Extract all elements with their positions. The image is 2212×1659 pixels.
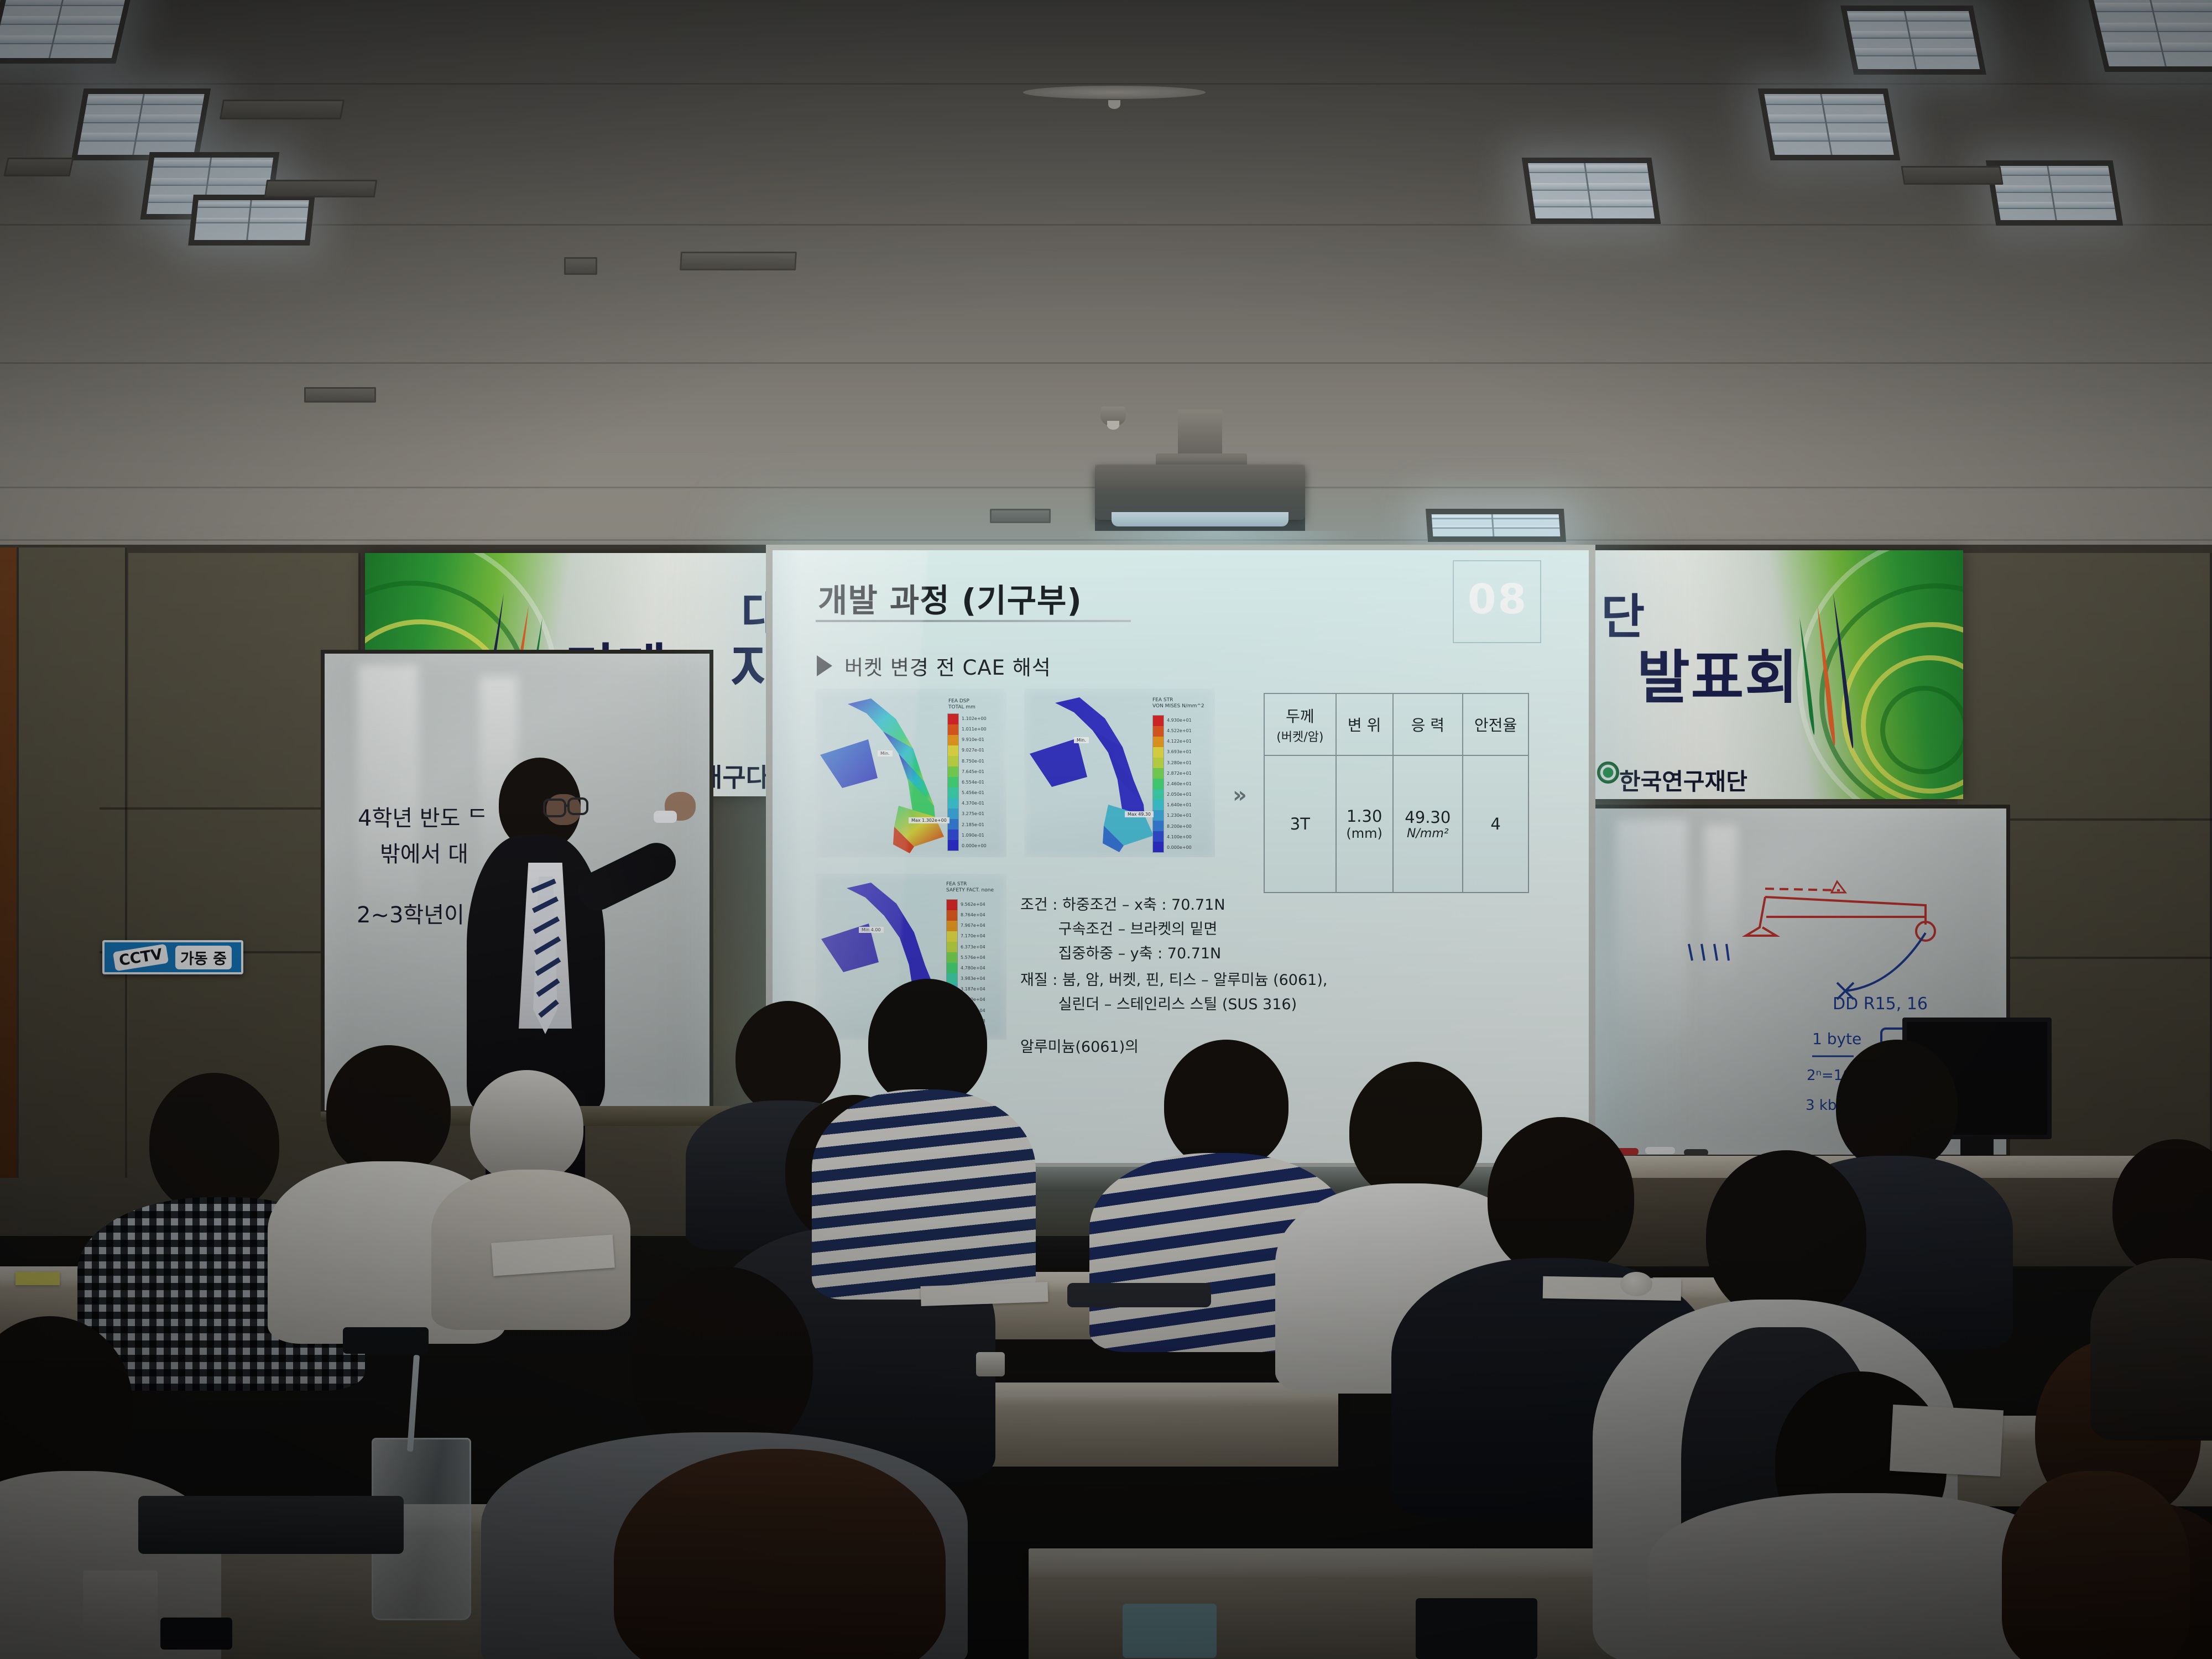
table-header-row: 두께 (버켓/암) 변 위 응 력 안전율	[1264, 693, 1528, 755]
attendee-foreground-long-hair	[553, 1449, 1006, 1659]
ceiling-vent	[990, 509, 1051, 523]
color-legend-bar	[947, 713, 959, 851]
table-header-thickness: 두께 (버켓/암)	[1264, 693, 1336, 755]
smartphone-dark	[343, 1327, 429, 1354]
ceiling-light	[1758, 88, 1901, 160]
crumpled-tissue	[1620, 1272, 1652, 1296]
banner-right-sponsor: 한국연구재단	[1619, 763, 1747, 797]
ceiling-vent	[264, 180, 377, 197]
attendee-foreground-far-right	[1969, 1471, 2212, 1659]
drinking-straw	[407, 1355, 420, 1452]
callout-max: Max 49.30	[1125, 811, 1154, 817]
lecture-room-photo: 기계 · 자 대 주최 : 대구다 단 발표회 한국연구재단 4학년 반도 ᄃ …	[0, 0, 2212, 1659]
ceiling-vent	[564, 257, 597, 275]
whiteboard-right-note-1: DD R15, 16	[1833, 994, 1928, 1014]
sticky-note	[15, 1272, 60, 1285]
cae-image-displacement: FEA DSP TOTAL mm	[816, 688, 1006, 857]
ceiling-light	[71, 88, 211, 160]
legend-title: FEA DSP TOTAL mm	[948, 698, 975, 711]
folder-dark	[1067, 1283, 1211, 1307]
sponsor-logo-icon	[1597, 761, 1619, 784]
laptop-bag	[138, 1496, 404, 1554]
cctv-status: 가동 중	[175, 946, 232, 969]
ceiling-vent	[304, 387, 376, 403]
table-header-displacement: 변 위	[1336, 693, 1393, 755]
ceiling-light	[0, 0, 133, 64]
double-chevron-icon: »	[1233, 782, 1247, 808]
necktie	[526, 877, 565, 1037]
chevron-right-icon	[817, 655, 832, 676]
cctv-sign: CCTV 가동 중	[102, 940, 243, 974]
ceiling-light	[1522, 158, 1661, 224]
banner-right-title: 발표회	[1637, 630, 1799, 714]
slide-bullet-label: 버켓 변경 전 CAE 해석	[844, 651, 1051, 681]
desk-row-front-right	[1029, 1548, 1681, 1579]
legend-values: 1.102e+001.011e+00 9.910e-019.027e-01 8.…	[962, 713, 987, 851]
material-line-1: 재질 : 붐, 암, 버켓, 핀, 티스 – 알루미늄 (6061),	[1020, 968, 1327, 993]
conditions-line-3: 집중하중 – y축 : 70.71N	[1020, 942, 1221, 966]
bottle-cap	[976, 1352, 1005, 1376]
conditions-line-1: 조건 : 하중조건 – x축 : 70.71N	[1020, 893, 1225, 917]
ceiling-light	[1840, 6, 1986, 75]
legend-title: FEA STR SAFETY FACT. none	[946, 881, 994, 894]
sprinkler-icon	[1023, 86, 1206, 99]
smartphone-on-desk	[160, 1618, 232, 1650]
callout-min: Min.	[1074, 737, 1089, 743]
handout-paper	[1543, 1276, 1682, 1301]
results-table: 두께 (버켓/암) 변 위 응 력 안전율 3T 1.30 (mm) 49.30	[1264, 693, 1529, 893]
callout-max: Max 1.302e+00	[909, 817, 950, 823]
presenter-arm	[572, 836, 682, 916]
smartphone-screen-lit	[1123, 1604, 1217, 1658]
table-row: 3T 1.30 (mm) 49.30 N/mm² 4	[1264, 755, 1528, 893]
cell-stress: 49.30 N/mm²	[1393, 755, 1463, 893]
title-underline	[816, 620, 1131, 622]
ceiling-vent	[3, 158, 74, 176]
cell-displacement: 1.30 (mm)	[1336, 755, 1393, 893]
paper-cup	[83, 1571, 158, 1640]
projector	[1095, 465, 1305, 531]
callout-min: Min.	[878, 750, 893, 757]
slide-bullet: 버켓 변경 전 CAE 해석	[817, 651, 1051, 681]
slide-title: 개발 과정 (기구부)	[818, 575, 1082, 621]
whiteboard-note-3: 2~3학년이	[357, 897, 465, 929]
table-header-stress: 응 력	[1393, 693, 1463, 755]
whiteboard-note-2: 밖에서 대	[380, 836, 468, 868]
sprinkler-icon	[1100, 406, 1126, 426]
smartphone-case	[1416, 1598, 1537, 1659]
material-line-2: 실린더 – 스테인리스 스틸 (SUS 316)	[1020, 993, 1297, 1017]
handout-paper	[1890, 1405, 2004, 1477]
presenter-cuff	[654, 811, 677, 823]
glasses-icon	[543, 794, 604, 827]
ceiling-vent	[1901, 166, 2003, 185]
ceiling-light	[2087, 0, 2212, 72]
callout-min: Min 4.00	[859, 927, 884, 933]
ceiling-vent	[680, 252, 797, 270]
conditions-line-2: 구속조건 – 브라켓의 밑면	[1020, 917, 1217, 942]
ceiling-light	[1986, 160, 2124, 226]
ceiling-light	[1426, 509, 1566, 542]
legend-values: 4.930e+014.522e+01 4.122e+013.693e+01 3.…	[1167, 715, 1192, 853]
color-legend-bar	[1152, 715, 1164, 853]
attendee-mid-navy-stripe	[807, 979, 1040, 1288]
legend-title: FEA STR VON MISES N/mm^2	[1152, 697, 1204, 710]
banner-right: 단 발표회 한국연구재단	[1582, 550, 1963, 799]
cctv-label: CCTV	[113, 943, 169, 971]
attendee-edge-right	[2090, 1139, 2212, 1427]
cell-thickness: 3T	[1264, 755, 1336, 893]
cae-image-stress: FEA STR VON MISES N/mm^2	[1024, 688, 1215, 857]
ceiling-light	[188, 195, 315, 246]
slide-number: 08	[1468, 576, 1528, 623]
cell-safety-factor: 4	[1463, 755, 1528, 893]
ceiling-vent	[220, 100, 345, 119]
table-header-safety: 안전율	[1463, 693, 1528, 755]
